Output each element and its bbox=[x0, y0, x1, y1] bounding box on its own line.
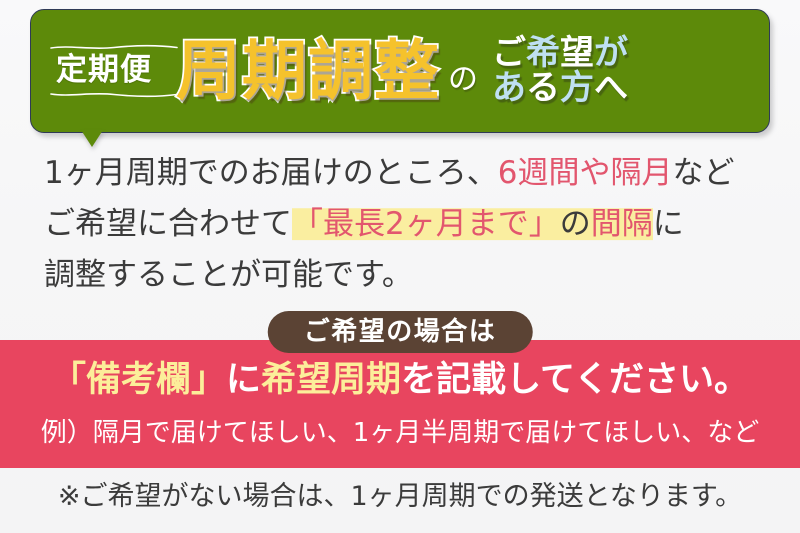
speech-bubble-tail-icon bbox=[81, 130, 103, 147]
body-paragraph: 1ヶ月周期でのお届けのところ、6週間や隔月など ご希望に合わせて「最長2ヶ月まで… bbox=[44, 148, 774, 301]
body-text-segment: 6週間 bbox=[498, 155, 580, 191]
header-right-char: あ bbox=[492, 68, 526, 108]
instruction-text-segment: に bbox=[226, 360, 261, 400]
body-text-segment: や bbox=[579, 155, 610, 191]
header-right-char: る bbox=[526, 68, 560, 108]
body-text-segment: 1ヶ月周期でのお届けのところ、 bbox=[44, 155, 498, 191]
body-text-segment: に bbox=[653, 206, 684, 242]
instruction-text-segment: 「備考欄」 bbox=[51, 360, 226, 400]
instruction-headline: 「備考欄」に希望周期を記載してください。 bbox=[0, 363, 800, 398]
wavy-rule-bottom-icon bbox=[50, 91, 178, 98]
body-line-2: ご希望に合わせて「最長2ヶ月まで」の間隔に bbox=[44, 199, 774, 250]
body-line-1: 1ヶ月周期でのお届けのところ、6週間や隔月など bbox=[44, 148, 774, 199]
header-right-char: 方 bbox=[560, 68, 594, 108]
instruction-text-segment: 希望周期 bbox=[261, 360, 401, 400]
instruction-band: 「備考欄」に希望周期を記載してください。 例）隔月で届けてほしい、1ヶ月半周期で… bbox=[0, 340, 800, 468]
body-text-segment: など bbox=[672, 155, 734, 191]
header-right-char: へ bbox=[594, 68, 628, 108]
body-text-segment-highlighted: 「最長2ヶ月まで」 bbox=[292, 205, 560, 243]
promo-banner: 定期便 周期調整 の ご希望が ある方へ bbox=[0, 0, 800, 533]
body-text-segment: 調整することが可能です。 bbox=[44, 257, 413, 293]
body-line-3: 調整することが可能です。 bbox=[44, 250, 774, 301]
subscription-tag: 定期便 bbox=[52, 43, 156, 99]
body-text-segment-highlighted: の bbox=[560, 205, 591, 243]
header-right-copy: ご希望が ある方へ bbox=[492, 36, 628, 105]
instruction-text-segment: を記載してください。 bbox=[401, 360, 749, 400]
instruction-example: 例）隔月で届けてほしい、1ヶ月半周期で届けてほしい、など bbox=[0, 420, 800, 446]
header-content: 定期便 周期調整 の ご希望が ある方へ bbox=[30, 9, 770, 133]
header-right-copy-line1: ご希望が bbox=[492, 36, 628, 71]
body-text-segment: ご希望に合わせて bbox=[44, 206, 292, 242]
header-connector-particle: の bbox=[448, 65, 478, 95]
footer-note: ※ご希望がない場合は、1ヶ月周期での発送となります。 bbox=[0, 483, 800, 510]
subscription-tag-label: 定期便 bbox=[56, 52, 152, 88]
wavy-rule-top-icon bbox=[50, 44, 178, 51]
condition-badge: ご希望の場合は bbox=[268, 311, 533, 353]
header-speech-box: 定期便 周期調整 の ご希望が ある方へ bbox=[30, 9, 770, 133]
header-main-title: 周期調整 bbox=[176, 39, 440, 104]
body-text-segment-highlighted: 間隔 bbox=[591, 205, 653, 243]
header-right-copy-line2: ある方へ bbox=[492, 71, 628, 106]
body-text-segment: 隔月 bbox=[610, 155, 672, 191]
condition-badge-label: ご希望の場合は bbox=[304, 319, 497, 345]
